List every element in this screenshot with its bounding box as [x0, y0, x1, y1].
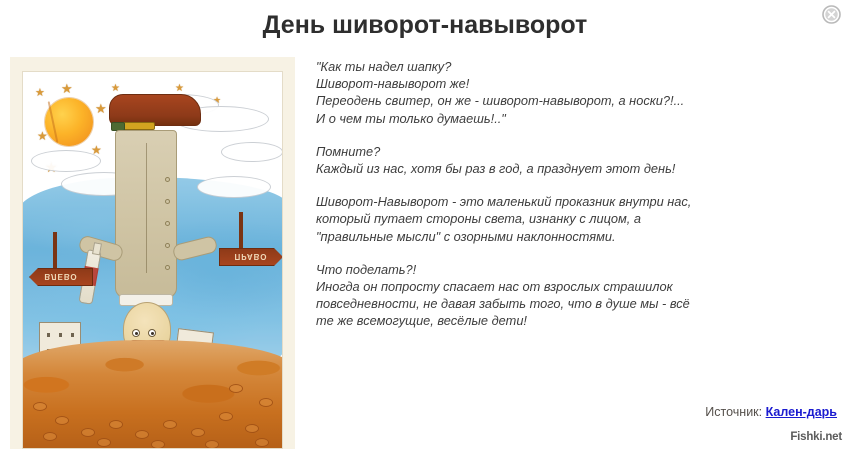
coat-button-shape: [165, 265, 170, 270]
paragraph: Шиворот-Навыворот - это маленький проказ…: [316, 193, 838, 245]
upside-down-day-illustration: ★ ★ ★ ★ ★ ★ ★ ★ ★: [22, 71, 283, 449]
star-icon: ★: [175, 84, 184, 94]
cloud-shape: [221, 142, 283, 162]
star-icon: ★: [35, 88, 45, 99]
star-icon: ★: [37, 130, 48, 142]
star-icon: ★: [61, 82, 73, 95]
signpost-pole-right: [239, 212, 243, 252]
coat-button-shape: [165, 199, 170, 204]
signpost-pole-left: [53, 232, 57, 272]
star-icon: ★: [95, 102, 107, 115]
coat-shape: [115, 130, 177, 298]
ground-shape: [22, 340, 283, 449]
coat-button-shape: [165, 243, 170, 248]
source-link[interactable]: Кален-дарь: [766, 405, 837, 419]
cloud-shape: [31, 150, 101, 172]
sun-icon: [45, 98, 93, 146]
illustration-frame: ★ ★ ★ ★ ★ ★ ★ ★ ★: [10, 57, 295, 449]
popup-page: День шиворот-навыворот ★ ★ ★ ★ ★ ★ ★ ★ ★: [0, 0, 850, 449]
paragraph: Помните? Каждый из нас, хотя бы раз в го…: [316, 143, 838, 177]
eye-shape: [148, 329, 156, 337]
article-text-column: "Как ты надел шапку? Шиворот-навыворот ж…: [316, 58, 838, 330]
paragraph: Что поделать?! Иногда он попросту спасае…: [316, 261, 838, 330]
star-icon: ★: [111, 84, 120, 94]
cloud-shape: [197, 176, 271, 198]
paragraph: "Как ты надел шапку? Шиворот-навыворот ж…: [316, 58, 838, 127]
signpost-left: ВЛЕВО: [29, 268, 93, 286]
source-line: Источник: Кален-дарь: [705, 405, 837, 419]
source-label: Источник:: [705, 405, 762, 419]
page-title: День шиворот-навыворот: [0, 11, 850, 40]
signpost-right: ПРАВО: [219, 248, 283, 266]
site-watermark: Fishki.net: [790, 431, 842, 443]
coat-button-shape: [165, 177, 170, 182]
eye-shape: [132, 329, 140, 337]
coat-button-shape: [165, 221, 170, 226]
